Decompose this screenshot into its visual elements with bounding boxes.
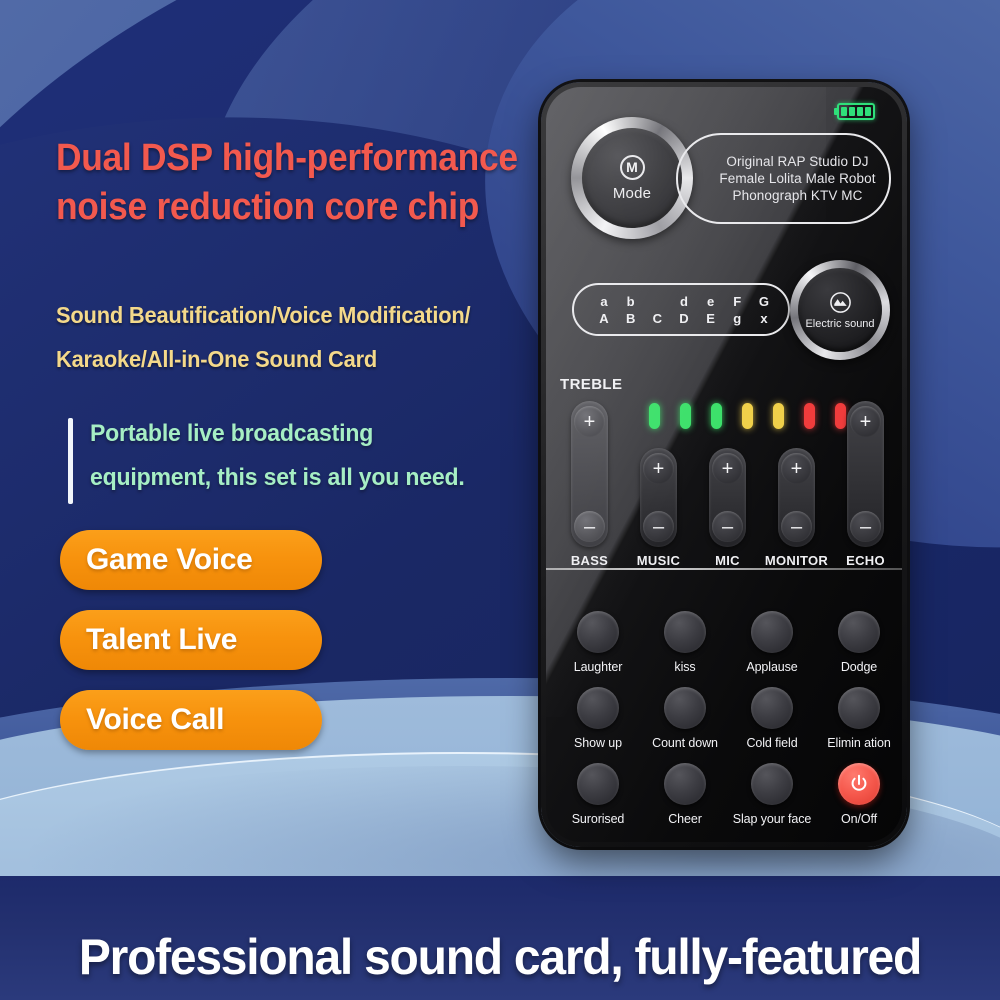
letter-cell: g <box>727 311 747 326</box>
power-button[interactable] <box>838 763 880 805</box>
feature-callout-line-2: equipment, this set is all you need. <box>90 456 539 500</box>
sound-button-slap-your-face-label: Slap your face <box>725 812 819 826</box>
letter-cell: B <box>621 311 641 326</box>
letter-grid-panel: a b c d e F G A B C D E g x <box>572 283 790 336</box>
sound-button-show-up[interactable] <box>577 687 619 729</box>
headline: Dual DSP high-performance noise reductio… <box>56 134 521 233</box>
sound-button-slap-your-face[interactable] <box>751 763 793 805</box>
sound-button-laughter-label: Laughter <box>551 660 645 674</box>
sound-button-applause[interactable] <box>751 611 793 653</box>
battery-icon <box>834 103 876 120</box>
mode-list-panel: Original RAP Studio DJ Female Lolita Mal… <box>676 133 891 224</box>
feature-pill-talent-live[interactable]: Talent Live <box>60 610 322 670</box>
led-indicator <box>773 403 784 429</box>
feature-callout-text: Portable live broadcasting equipment, th… <box>90 412 539 501</box>
sound-button-applause-label: Applause <box>725 660 819 674</box>
feature-pill-voice-call-label: Voice Call <box>86 703 224 737</box>
mode-knob-label: Mode <box>613 185 651 202</box>
subheadline-line-1: Sound Beautification/Voice Modification/ <box>56 293 541 337</box>
letter-cell: E <box>701 311 721 326</box>
fader-monitor[interactable]: + – <box>778 448 815 547</box>
letter-cell: G <box>754 294 774 309</box>
battery-cell <box>841 107 847 116</box>
sound-button-cold-field-label: Cold field <box>725 736 819 750</box>
fader-bass-plus[interactable]: + <box>574 406 605 437</box>
letter-cell: a <box>594 294 614 309</box>
battery-cell <box>865 107 871 116</box>
bottom-headline: Professional sound card, fully-featured <box>20 928 980 986</box>
fader-echo[interactable]: + – <box>847 401 884 547</box>
letter-cell: e <box>701 294 721 309</box>
letter-cell: C <box>647 311 667 326</box>
letter-cell: F <box>727 294 747 309</box>
mode-list-line: Phonograph KTV MC <box>732 188 862 203</box>
waveform-circle-icon <box>829 291 852 314</box>
letter-grid-row-bottom: A B C D E g x <box>594 311 774 326</box>
feature-pill-voice-call[interactable]: Voice Call <box>60 690 322 750</box>
accent-bar <box>68 418 73 504</box>
sound-button-cold-field[interactable] <box>751 687 793 729</box>
letter-cell: D <box>674 311 694 326</box>
led-indicator <box>804 403 815 429</box>
fader-bass[interactable]: + – <box>571 401 608 547</box>
sound-button-show-up-label: Show up <box>551 736 645 750</box>
sound-card-device: M Mode Original RAP Studio DJ Female Lol… <box>541 82 907 847</box>
sound-button-count-down-label: Count down <box>638 736 732 750</box>
sound-button-count-down[interactable] <box>664 687 706 729</box>
mode-list-line: Female Lolita Male Robot <box>719 171 875 186</box>
mode-list-line: Original RAP Studio DJ <box>726 154 868 169</box>
panel-divider <box>546 568 902 570</box>
sound-button-surprised[interactable] <box>577 763 619 805</box>
feature-callout-line-1: Portable live broadcasting <box>90 412 539 456</box>
sound-button-dodge[interactable] <box>838 611 880 653</box>
sound-button-kiss[interactable] <box>664 611 706 653</box>
sound-button-kiss-label: kiss <box>638 660 732 674</box>
fader-monitor-plus[interactable]: + <box>781 453 812 484</box>
fader-echo-plus[interactable]: + <box>850 406 881 437</box>
headline-line-2: noise reduction core chip <box>56 183 521 232</box>
fader-music-plus[interactable]: + <box>643 453 674 484</box>
letter-cell: x <box>754 311 774 326</box>
letter-cell: d <box>674 294 694 309</box>
fader-mic-minus[interactable]: – <box>712 511 743 542</box>
subheadline-line-2: Karaoke/All-in-One Sound Card <box>56 337 541 381</box>
battery-body <box>837 103 875 120</box>
sound-button-cheer-label: Cheer <box>638 812 732 826</box>
led-indicator <box>835 403 846 429</box>
sound-button-cheer[interactable] <box>664 763 706 805</box>
power-icon <box>848 773 870 795</box>
fader-echo-label: ECHO <box>826 553 902 568</box>
marketing-copy: Dual DSP high-performance noise reductio… <box>0 0 560 1000</box>
led-indicator <box>649 403 660 429</box>
power-button-label: On/Off <box>812 812 902 826</box>
subheadline: Sound Beautification/Voice Modification/… <box>56 293 541 381</box>
fader-music-label: MUSIC <box>619 553 698 568</box>
battery-cell <box>849 107 855 116</box>
sound-button-dodge-label: Dodge <box>812 660 902 674</box>
sound-button-laughter[interactable] <box>577 611 619 653</box>
headline-line-1: Dual DSP high-performance <box>56 134 521 183</box>
fader-monitor-minus[interactable]: – <box>781 511 812 542</box>
fader-mic[interactable]: + – <box>709 448 746 547</box>
feature-pill-talent-live-label: Talent Live <box>86 623 237 657</box>
mode-knob[interactable]: M Mode <box>571 117 693 239</box>
letter-cell: b <box>621 294 641 309</box>
sound-button-surprised-label: Surorised <box>551 812 645 826</box>
device-faceplate: M Mode Original RAP Studio DJ Female Lol… <box>546 87 902 842</box>
fader-monitor-label: MONITOR <box>757 553 836 568</box>
feature-pill-game-voice-label: Game Voice <box>86 543 253 577</box>
fader-bass-label: BASS <box>550 553 629 568</box>
sound-button-elimination[interactable] <box>838 687 880 729</box>
electric-sound-label: Electric sound <box>805 318 874 330</box>
feature-pill-game-voice[interactable]: Game Voice <box>60 530 322 590</box>
fader-music[interactable]: + – <box>640 448 677 547</box>
battery-cell <box>857 107 863 116</box>
sound-button-elimination-label: Elimin ation <box>812 736 902 750</box>
fader-mic-label: MIC <box>688 553 767 568</box>
fader-music-minus[interactable]: – <box>643 511 674 542</box>
letter-grid-row-top: a b c d e F G <box>594 294 774 309</box>
circled-m-icon: M <box>620 155 645 180</box>
fader-bass-minus[interactable]: – <box>574 511 605 542</box>
led-indicator <box>742 403 753 429</box>
letter-cell: A <box>594 311 614 326</box>
treble-label: TREBLE <box>560 376 622 393</box>
mode-knob-face[interactable]: M Mode <box>582 128 682 228</box>
fader-mic-plus[interactable]: + <box>712 453 743 484</box>
led-indicator <box>680 403 691 429</box>
electric-sound-knob-face[interactable]: Electric sound <box>798 268 882 352</box>
led-indicator <box>711 403 722 429</box>
fader-echo-minus[interactable]: – <box>850 511 881 542</box>
electric-sound-knob[interactable]: Electric sound <box>790 260 890 360</box>
feature-callout: Portable live broadcasting equipment, th… <box>68 412 558 501</box>
